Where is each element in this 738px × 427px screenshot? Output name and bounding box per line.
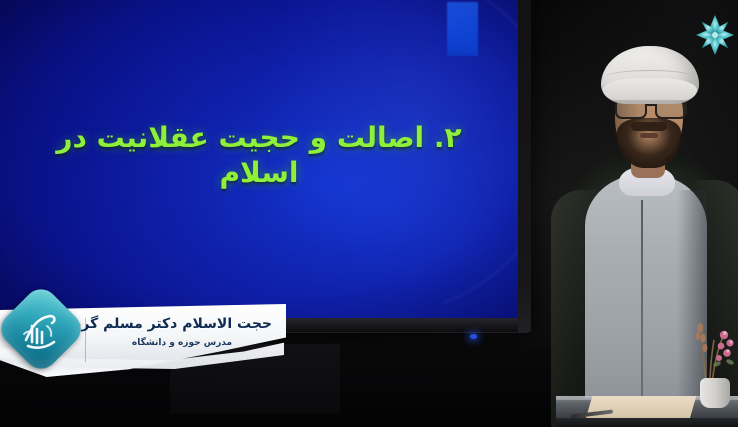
turban-band: [603, 78, 697, 100]
lower-third-banner: حجت الاسلام دکتر مسلم گریوانی مدرس حوزه …: [0, 296, 294, 384]
presenter-mouth: [640, 133, 658, 138]
glasses-bridge: [645, 104, 657, 106]
presenter-name: حجت الاسلام دکتر مسلم گریوانی: [92, 316, 272, 332]
lower-third-text-group: حجت الاسلام دکتر مسلم گریوانی مدرس حوزه …: [92, 316, 272, 348]
flower-arrangement: [686, 318, 738, 384]
desk-front-panel: [556, 418, 738, 427]
broadcast-frame: ۲. اصالت و حجیت عقلانیت در اسلام: [0, 0, 738, 427]
ketab-calligraphy-logo-icon: [8, 296, 74, 362]
display-screen: ۲. اصالت و حجیت عقلانیت در اسلام: [0, 0, 518, 318]
monitor-power-led: [470, 334, 477, 339]
flower-vase: [700, 378, 730, 408]
flowers-icon: [686, 318, 738, 384]
presenter-role: مدرس حوزه و دانشگاه: [92, 338, 272, 348]
presenter-robe-seam: [641, 200, 643, 427]
slide-title: ۲. اصالت و حجیت عقلانیت در اسلام: [0, 120, 518, 190]
presenter-mustache: [631, 122, 667, 131]
wall-display: ۲. اصالت و حجیت عقلانیت در اسلام: [0, 0, 531, 333]
